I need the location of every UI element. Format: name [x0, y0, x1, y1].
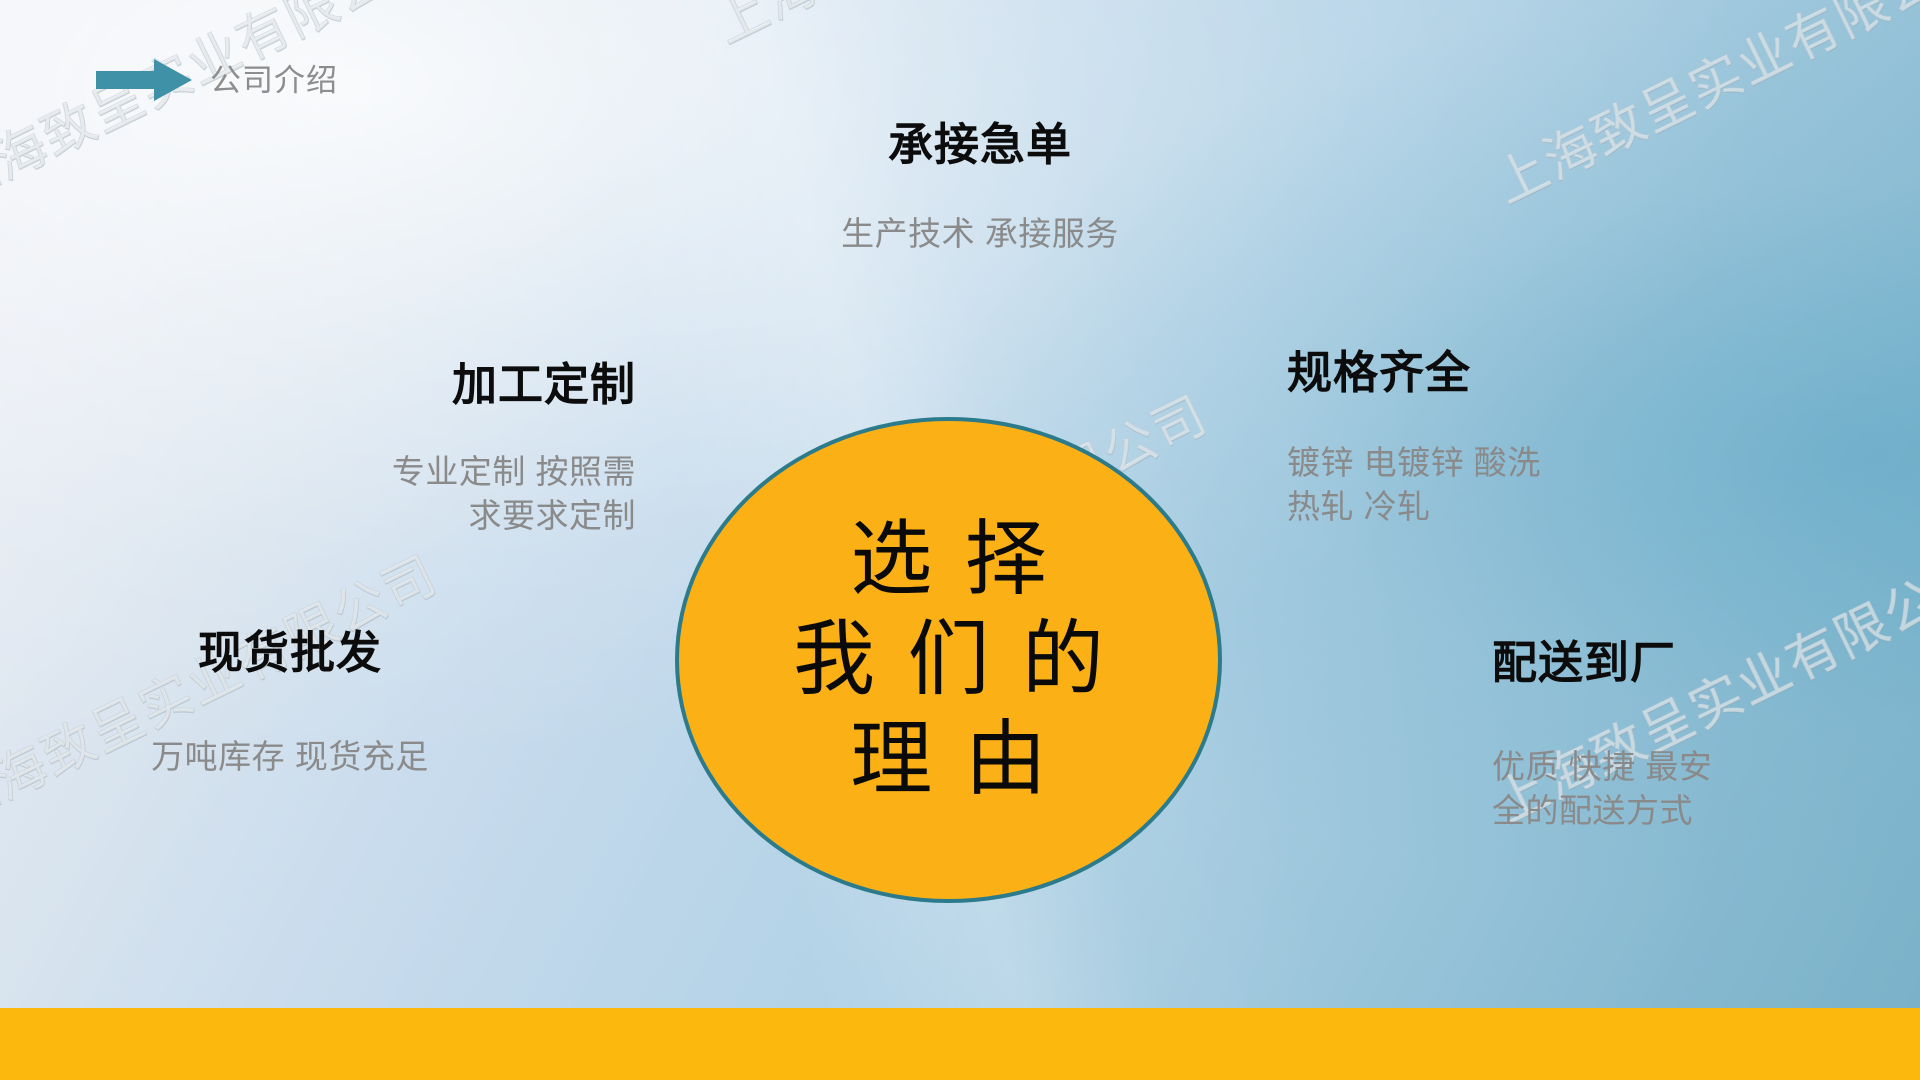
feature-title: 承接急单	[760, 120, 1200, 170]
center-ellipse: 选 择 我 们 的 理 由	[675, 417, 1222, 903]
center-line-1: 选 择	[844, 510, 1053, 610]
right-arrow-icon	[96, 58, 192, 102]
feature-full-specs: 规格齐全 镀锌 电镀锌 酸洗 热轧 冷轧	[1287, 348, 1707, 529]
feature-urgent-orders: 承接急单 生产技术 承接服务	[760, 120, 1200, 256]
feature-description-line: 镀锌 电镀锌 酸洗	[1287, 441, 1707, 485]
section-header: 公司介绍	[96, 58, 338, 102]
center-line-3: 理 由	[844, 710, 1053, 810]
slide-canvas: 上海致呈实业有限公司上海致呈实业有限公司上海致呈实业有限公司上海致呈实业有限公司…	[0, 0, 1920, 1080]
feature-custom-processing: 加工定制 专业定制 按照需 求要求定制	[276, 360, 636, 538]
feature-description: 生产技术 承接服务	[760, 212, 1200, 256]
feature-description: 专业定制 按照需 求要求定制	[276, 450, 636, 538]
feature-description: 镀锌 电镀锌 酸洗 热轧 冷轧	[1287, 441, 1707, 529]
feature-description-line: 热轧 冷轧	[1287, 485, 1707, 529]
center-line-2: 我 们 的	[787, 610, 1110, 710]
header-label: 公司介绍	[210, 65, 338, 96]
feature-description-line: 全的配送方式	[1492, 789, 1892, 833]
feature-description-line: 专业定制 按照需	[276, 450, 636, 494]
feature-description-line: 万吨库存 现货充足	[120, 735, 460, 779]
feature-title: 加工定制	[276, 360, 636, 410]
feature-title: 规格齐全	[1287, 348, 1707, 398]
feature-title: 配送到厂	[1492, 638, 1892, 688]
feature-description: 优质 快捷 最安 全的配送方式	[1492, 745, 1892, 833]
feature-description-line: 优质 快捷 最安	[1492, 745, 1892, 789]
bottom-accent-bar	[0, 1008, 1920, 1080]
feature-spot-wholesale: 现货批发 万吨库存 现货充足	[120, 628, 460, 779]
feature-title: 现货批发	[120, 628, 460, 678]
feature-factory-delivery: 配送到厂 优质 快捷 最安 全的配送方式	[1492, 638, 1892, 833]
feature-description-line: 求要求定制	[276, 494, 636, 538]
feature-description: 万吨库存 现货充足	[120, 735, 460, 779]
feature-description-line: 生产技术 承接服务	[760, 212, 1200, 256]
